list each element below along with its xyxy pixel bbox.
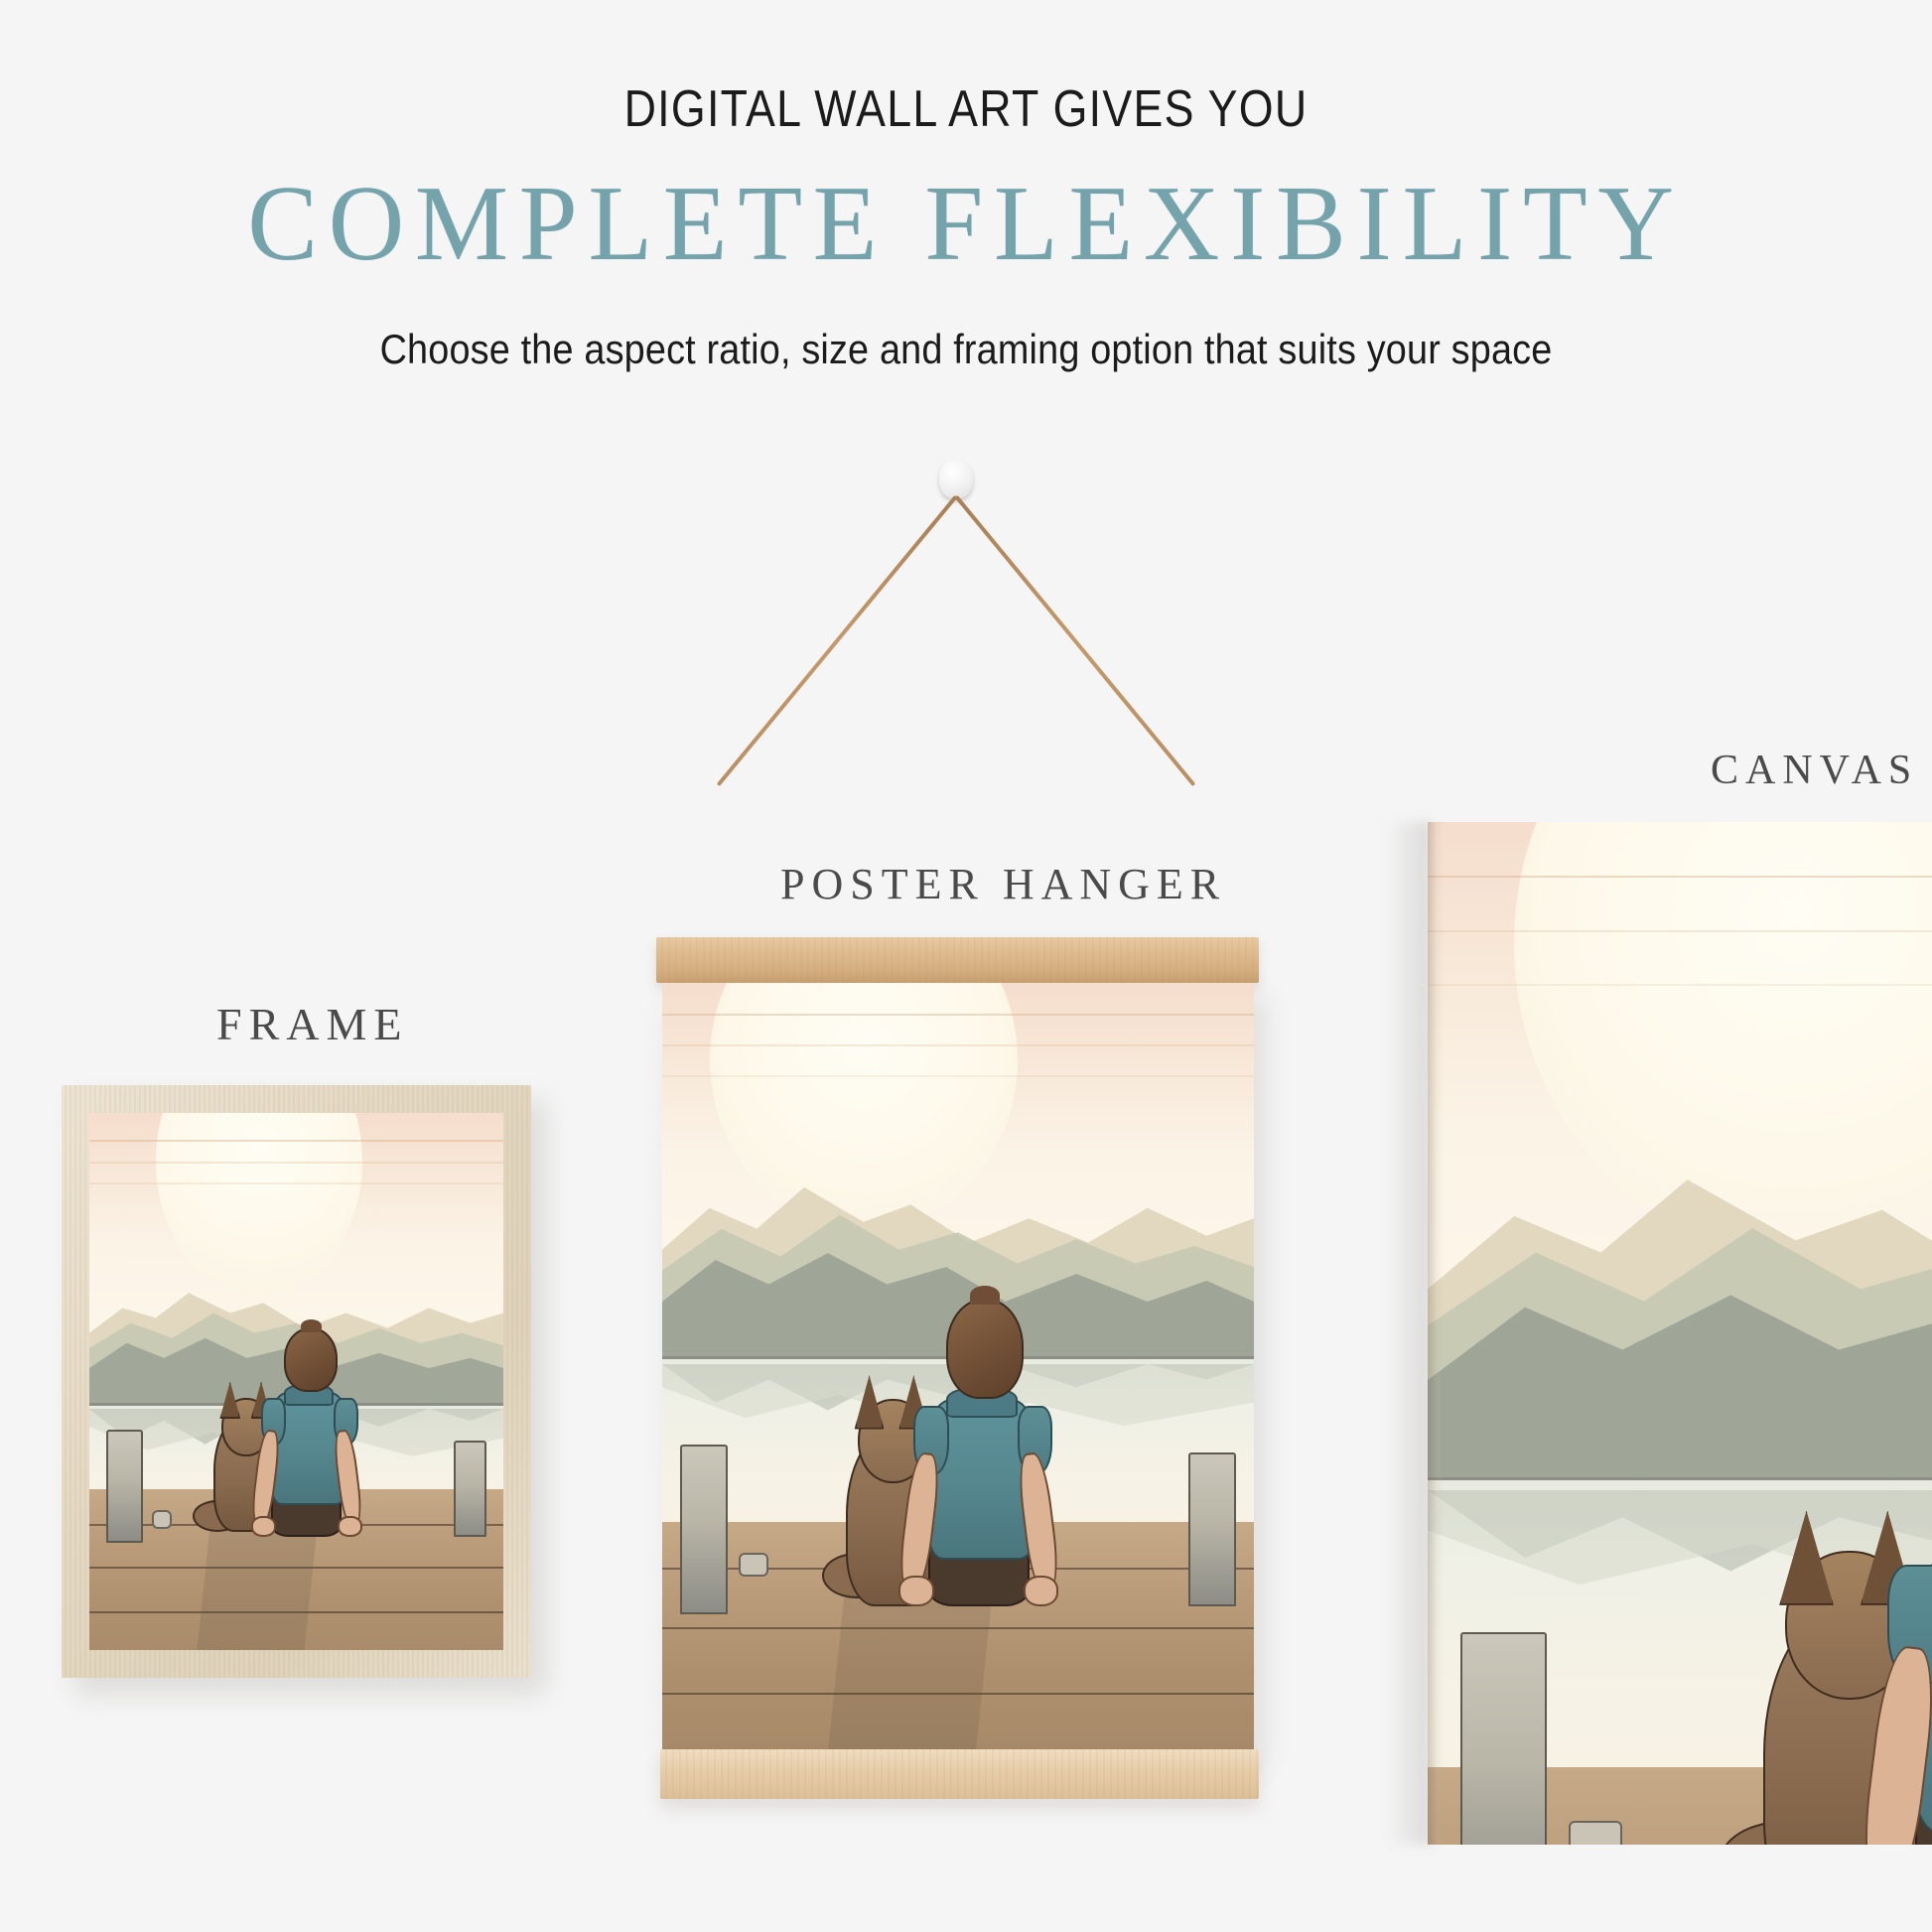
canvas-wrap-edge bbox=[1428, 822, 1444, 1845]
artwork-figures bbox=[1428, 822, 1932, 1845]
artwork-boy-hand-right bbox=[1024, 1576, 1059, 1606]
artwork-boy-hair-tuft bbox=[301, 1319, 322, 1332]
hanger-cord-left bbox=[717, 495, 958, 786]
poster-artwork-sheet[interactable] bbox=[662, 983, 1254, 1752]
artwork-boy-hand-left bbox=[251, 1516, 276, 1538]
page-header: DIGITAL WALL ART GIVES YOU COMPLETE FLEX… bbox=[0, 0, 1932, 373]
poster-hanger-label: POSTER HANGER bbox=[780, 859, 1226, 909]
canvas-artwork-face bbox=[1428, 822, 1932, 1845]
header-subtitle: Choose the aspect ratio, size and framin… bbox=[96, 326, 1835, 373]
wall-hook-icon bbox=[939, 459, 973, 498]
artwork-boy-head bbox=[284, 1327, 338, 1392]
artwork-figures bbox=[662, 983, 1254, 1752]
frame-label: FRAME bbox=[216, 998, 408, 1050]
artwork-boy-hair-tuft bbox=[970, 1286, 1000, 1305]
product-canvas[interactable] bbox=[1428, 822, 1932, 1845]
artwork-boy-hand-right bbox=[338, 1516, 362, 1538]
product-frame[interactable] bbox=[62, 1085, 531, 1678]
artwork-boy-head bbox=[946, 1299, 1023, 1399]
artwork-figures bbox=[89, 1113, 503, 1650]
frame-artwork-window bbox=[89, 1113, 503, 1650]
artwork-frame bbox=[89, 1113, 503, 1650]
hanger-bottom-rail bbox=[660, 1749, 1259, 1799]
hanger-cord-right bbox=[954, 495, 1195, 786]
hanger-top-rail bbox=[656, 937, 1259, 983]
header-eyebrow: DIGITAL WALL ART GIVES YOU bbox=[135, 79, 1797, 139]
canvas-drop-shadow bbox=[1386, 822, 1432, 1845]
canvas-label: CANVAS bbox=[1711, 747, 1918, 794]
artwork-canvas bbox=[1428, 822, 1932, 1845]
artwork-boy-hand-left bbox=[898, 1576, 934, 1606]
page-title: COMPLETE FLEXIBILITY bbox=[19, 163, 1912, 286]
artwork-poster bbox=[662, 983, 1254, 1752]
